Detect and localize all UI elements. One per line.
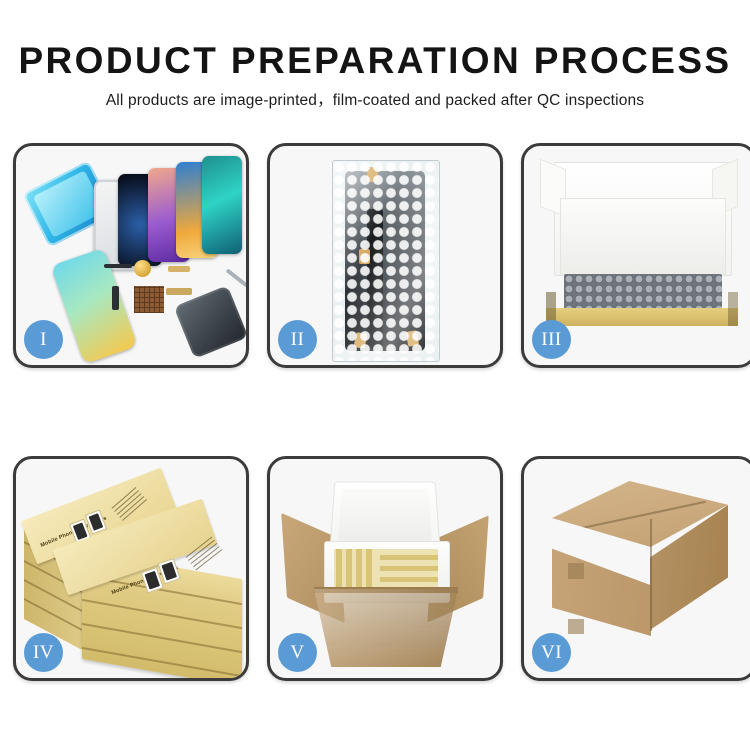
process-step-grid: I II bbox=[13, 143, 737, 687]
flex-cable-icon-1 bbox=[104, 264, 132, 268]
carton-tape-patch-2 bbox=[568, 619, 584, 634]
box-label-spec-lines-front bbox=[186, 537, 224, 573]
carton-vertical-edge bbox=[650, 519, 652, 631]
step-badge-2: II bbox=[278, 320, 317, 359]
step-badge-3: III bbox=[532, 320, 571, 359]
product-preparation-infographic: PRODUCT PREPARATION PROCESS All products… bbox=[0, 0, 750, 750]
box-seam bbox=[24, 598, 84, 631]
page-subtitle: All products are image-printed，film-coat… bbox=[0, 82, 750, 110]
phone-back-housing-icon bbox=[174, 285, 249, 359]
box-seam bbox=[82, 599, 242, 629]
phone-lineup bbox=[94, 156, 239, 266]
carton-tape-patch-1 bbox=[568, 563, 584, 579]
step-badge-6: VI bbox=[532, 633, 571, 672]
process-step-card-5: V bbox=[267, 456, 503, 681]
process-step-card-4: Mobile Phone Spare Parts Mobile Phone Sp… bbox=[13, 456, 249, 681]
process-step-card-1: I bbox=[13, 143, 249, 368]
copper-contact-pad-icon bbox=[134, 286, 164, 313]
plastic-sheen bbox=[333, 161, 439, 361]
flex-cable-icon-4 bbox=[112, 286, 119, 310]
bubble-wrapped-contents bbox=[564, 274, 722, 312]
white-foam-sheet bbox=[560, 198, 726, 276]
box-seam bbox=[82, 623, 242, 653]
carton-body-shading bbox=[314, 589, 458, 667]
camera-ring-part-icon bbox=[134, 260, 151, 277]
spare-parts-cluster bbox=[106, 258, 246, 362]
step-badge-1: I bbox=[24, 320, 63, 359]
page-title: PRODUCT PREPARATION PROCESS bbox=[0, 0, 750, 82]
box-seam bbox=[82, 647, 242, 677]
flex-cable-icon-2 bbox=[168, 266, 190, 272]
header: PRODUCT PREPARATION PROCESS All products… bbox=[0, 0, 750, 110]
process-step-card-2: II bbox=[267, 143, 503, 368]
yellow-box-front-edge bbox=[546, 308, 738, 326]
yellow-box-edge-right bbox=[728, 292, 738, 326]
process-step-card-6: VI bbox=[521, 456, 750, 681]
process-step-card-3: III bbox=[521, 143, 750, 368]
step-badge-4: IV bbox=[24, 633, 63, 672]
flex-cable-icon-3 bbox=[166, 288, 192, 295]
step-badge-5: V bbox=[278, 633, 317, 672]
screwdriver-icon bbox=[226, 268, 249, 287]
phone-device-4 bbox=[202, 156, 242, 254]
bubble-wrap-pouch bbox=[332, 160, 440, 362]
